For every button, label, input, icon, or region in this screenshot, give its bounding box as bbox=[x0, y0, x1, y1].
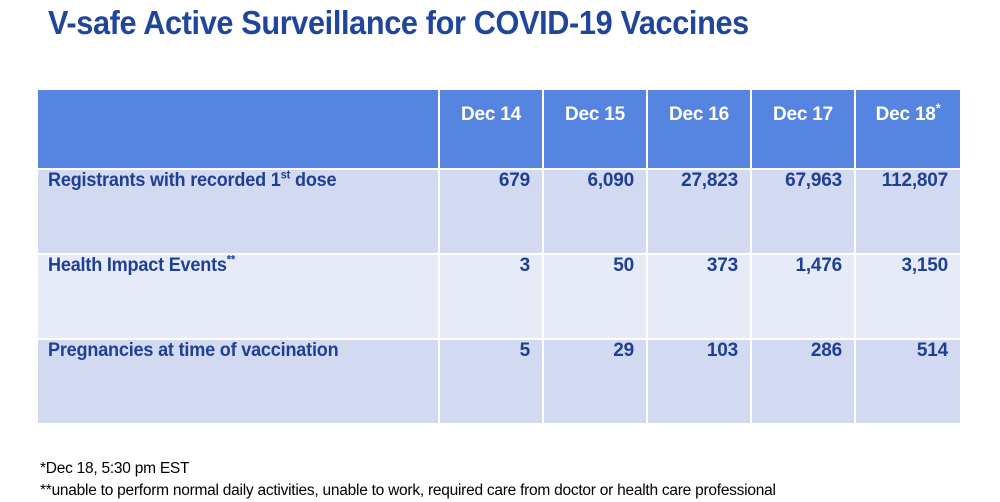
column-header-dec-14: Dec 14 bbox=[440, 90, 544, 168]
cell-pregnancies-dec-14: 5 bbox=[440, 338, 544, 423]
table-row: Health Impact Events** 3 50 373 1,476 3,… bbox=[38, 253, 960, 338]
footnotes-block: *Dec 18, 5:30 pm EST **unable to perform… bbox=[40, 458, 995, 502]
column-header-dec-17: Dec 17 bbox=[752, 90, 856, 168]
row-label-text: Health Impact Events bbox=[48, 255, 227, 276]
cell-health-impact-dec-15: 50 bbox=[544, 253, 648, 338]
row-label-text: Registrants with recorded 1 bbox=[48, 170, 281, 191]
cell-registrants-dec-17: 67,963 bbox=[752, 168, 856, 253]
cell-pregnancies-dec-15: 29 bbox=[544, 338, 648, 423]
cell-pregnancies-dec-17: 286 bbox=[752, 338, 856, 423]
column-header-label: Dec 15 bbox=[565, 104, 625, 125]
column-header-label: Dec 14 bbox=[461, 104, 521, 125]
cell-health-impact-dec-16: 373 bbox=[648, 253, 752, 338]
cell-health-impact-dec-14: 3 bbox=[440, 253, 544, 338]
column-header-dec-18: Dec 18* bbox=[856, 90, 960, 168]
table-header-row: Dec 14 Dec 15 Dec 16 Dec 17 Dec 18* bbox=[38, 90, 960, 168]
footnote-asterisk: *Dec 18, 5:30 pm EST bbox=[40, 458, 995, 480]
cell-registrants-dec-14: 679 bbox=[440, 168, 544, 253]
cell-registrants-dec-15: 6,090 bbox=[544, 168, 648, 253]
column-header-label: Dec 17 bbox=[773, 104, 833, 125]
footnote-double-asterisk: **unable to perform normal daily activit… bbox=[40, 480, 995, 502]
column-header-dec-15: Dec 15 bbox=[544, 90, 648, 168]
row-label-text: Pregnancies at time of vaccination bbox=[48, 340, 338, 361]
column-header-label: Dec 16 bbox=[669, 104, 729, 125]
row-label-pregnancies: Pregnancies at time of vaccination bbox=[38, 338, 440, 423]
cell-registrants-dec-16: 27,823 bbox=[648, 168, 752, 253]
table-corner-cell bbox=[38, 90, 440, 168]
cell-registrants-dec-18: 112,807 bbox=[856, 168, 960, 253]
row-label-superscript: st bbox=[281, 169, 291, 182]
row-label-registrants: Registrants with recorded 1st dose bbox=[38, 168, 440, 253]
cell-pregnancies-dec-16: 103 bbox=[648, 338, 752, 423]
column-header-dec-16: Dec 16 bbox=[648, 90, 752, 168]
table-header: Dec 14 Dec 15 Dec 16 Dec 17 Dec 18* bbox=[38, 90, 960, 168]
cell-health-impact-dec-18: 3,150 bbox=[856, 253, 960, 338]
cell-pregnancies-dec-18: 514 bbox=[856, 338, 960, 423]
cell-health-impact-dec-17: 1,476 bbox=[752, 253, 856, 338]
table-row: Pregnancies at time of vaccination 5 29 … bbox=[38, 338, 960, 423]
surveillance-data-table: Dec 14 Dec 15 Dec 16 Dec 17 Dec 18* Regi… bbox=[38, 90, 960, 423]
table-row: Registrants with recorded 1st dose 679 6… bbox=[38, 168, 960, 253]
row-label-health-impact-events: Health Impact Events** bbox=[38, 253, 440, 338]
row-label-superscript: ** bbox=[227, 254, 235, 267]
slide-canvas: V-safe Active Surveillance for COVID-19 … bbox=[0, 0, 1000, 500]
table-body: Registrants with recorded 1st dose 679 6… bbox=[38, 168, 960, 423]
row-label-tail: dose bbox=[290, 170, 336, 191]
column-header-label: Dec 18 bbox=[876, 104, 936, 125]
column-header-superscript: * bbox=[936, 102, 941, 116]
page-title: V-safe Active Surveillance for COVID-19 … bbox=[48, 4, 749, 42]
